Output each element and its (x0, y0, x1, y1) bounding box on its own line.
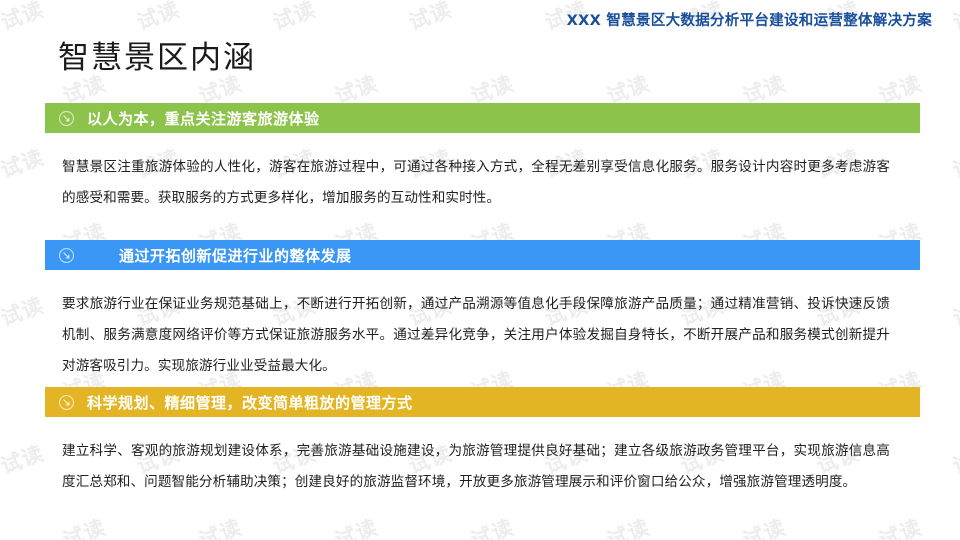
section-header-label-3: 科学规划、精细管理，改变简单粗放的管理方式 (87, 392, 413, 413)
document-header-title: XXX 智慧景区大数据分析平台建设和运营整体解决方案 (567, 9, 932, 30)
section-block-3: 科学规划、精细管理，改变简单粗放的管理方式 建立科学、客观的旅游规划建设体系，完… (45, 387, 920, 498)
section-body-text-1: 智慧景区注重旅游体验的人性化，游客在旅游过程中，可通过各种接入方式，全程无差别享… (62, 152, 890, 214)
section-header-bar-1[interactable]: 以人为本，重点关注游客旅游体验 (45, 103, 920, 133)
section-header-bar-2[interactable]: 通过开拓创新促进行业的整体发展 (45, 240, 920, 270)
section-header-bar-3[interactable]: 科学规划、精细管理，改变简单粗放的管理方式 (45, 387, 920, 417)
page-title: 智慧景区内涵 (58, 32, 256, 77)
section-body-text-3: 建立科学、客观的旅游规划建设体系，完善旅游基础设施建设，为旅游管理提供良好基础；… (62, 436, 890, 498)
section-header-label-2: 通过开拓创新促进行业的整体发展 (119, 245, 352, 266)
circle-arrow-down-right-icon (51, 247, 81, 264)
section-body-text-2: 要求旅游行业在保证业务规范基础上，不断进行开拓创新，通过产品溯源等值息化手段保障… (62, 289, 890, 382)
circle-arrow-down-right-icon (51, 110, 81, 127)
section-header-label-1: 以人为本，重点关注游客旅游体验 (87, 108, 320, 129)
circle-arrow-down-right-icon (51, 394, 81, 411)
section-block-2: 通过开拓创新促进行业的整体发展 要求旅游行业在保证业务规范基础上，不断进行开拓创… (45, 240, 920, 382)
slide-page: XXX 智慧景区大数据分析平台建设和运营整体解决方案 智慧景区内涵 以人为本，重… (0, 0, 960, 540)
section-block-1: 以人为本，重点关注游客旅游体验 智慧景区注重旅游体验的人性化，游客在旅游过程中，… (45, 103, 920, 214)
